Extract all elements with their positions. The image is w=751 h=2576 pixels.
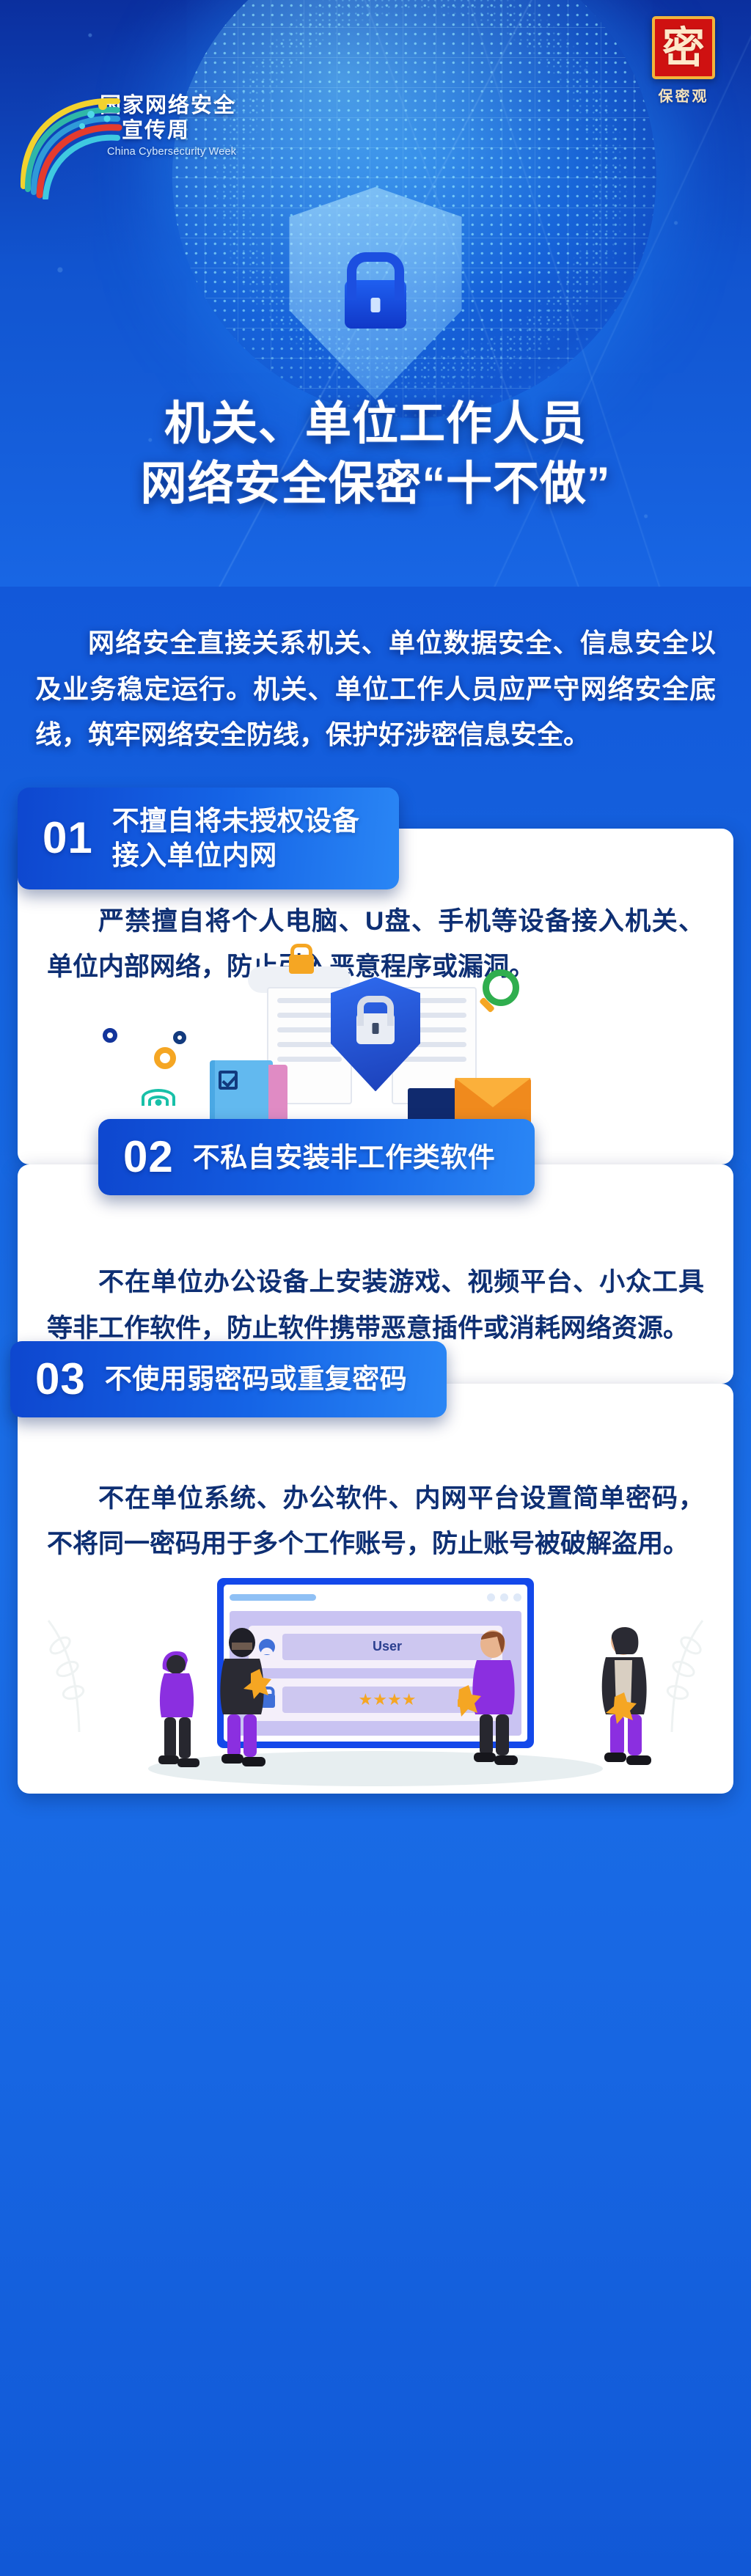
rule-header-01[interactable]: 01 不擅自将未授权设备 接入单位内网 xyxy=(18,788,399,889)
rule-panel-01: 01 不擅自将未授权设备 接入单位内网 严禁擅自将个人电脑、U盘、手机等设备接入… xyxy=(18,829,733,1165)
seal-stamp-icon: 密 xyxy=(652,16,715,79)
intro-paragraph: 网络安全直接关系机关、单位数据安全、信息安全以及业务稳定运行。机关、单位工作人员… xyxy=(35,620,716,758)
rule-header-02[interactable]: 02 不私自安装非工作类软件 xyxy=(98,1119,535,1195)
rule-number-03: 03 xyxy=(35,1357,86,1401)
title-line-2: 网络安全保密“十不做” xyxy=(0,455,751,515)
cybersecurity-week-logo: 国家网络安全 宣传周 China Cybersecurity Week xyxy=(21,94,285,158)
rule-body-02: 不在单位办公设备上安装游戏、视频平台、小众工具等非工作软件，防止软件携带恶意插件… xyxy=(47,1260,704,1351)
window-controls[interactable] xyxy=(487,1593,521,1601)
hacker-figure-4 xyxy=(590,1618,660,1775)
seal-character: 密 xyxy=(662,26,705,69)
rule-item-01: 01 不擅自将未授权设备 接入单位内网 严禁擅自将个人电脑、U盘、手机等设备接入… xyxy=(0,829,751,1165)
padlock-icon xyxy=(356,1013,395,1044)
rules-list: 01 不擅自将未授权设备 接入单位内网 严禁擅自将个人电脑、U盘、手机等设备接入… xyxy=(0,829,751,1794)
magnifier-icon xyxy=(483,969,519,1006)
browser-toolbar xyxy=(230,1590,521,1605)
rule-heading-02: 不私自安装非工作类软件 xyxy=(193,1140,496,1175)
logo-title-line1: 国家网络安全 xyxy=(100,94,285,118)
padlock-icon xyxy=(345,280,406,329)
hacker-figure-3 xyxy=(458,1622,525,1775)
rule-heading-01-line1: 不擅自将未授权设备 xyxy=(112,806,360,836)
gear-icon-small xyxy=(173,1031,186,1044)
padlock-icon-small xyxy=(289,955,314,974)
rule-panel-03: 03 不使用弱密码或重复密码 不在单位系统、办公软件、内网平台设置简单密码，不将… xyxy=(18,1384,733,1794)
username-value: User xyxy=(373,1639,402,1654)
checkbox-icon xyxy=(219,1071,238,1090)
password-mask: ★★★★ xyxy=(359,1692,417,1708)
rule-body-03: 不在单位系统、办公软件、内网平台设置简单密码，不将同一密码用于多个工作账号，防止… xyxy=(47,1476,704,1568)
wifi-icon xyxy=(141,1085,176,1106)
rule-number-01: 01 xyxy=(43,816,93,860)
rule-heading-03: 不使用弱密码或重复密码 xyxy=(105,1362,408,1396)
leaf-decoration-left xyxy=(35,1607,123,1732)
swoosh-icon xyxy=(15,89,125,199)
logo-subtitle-en: China Cybersecurity Week xyxy=(100,146,285,158)
infographic-poster: 国家网络安全 宣传周 China Cybersecurity Week 密 保密… xyxy=(0,0,751,2576)
window-dot-3 xyxy=(513,1593,521,1601)
rule-number-02: 02 xyxy=(123,1135,174,1179)
window-dot-2 xyxy=(500,1593,508,1601)
illustration-password-theft: User ★★★★ xyxy=(18,1574,733,1794)
window-dot-1 xyxy=(487,1593,495,1601)
rule-heading-01: 不擅自将未授权设备 接入单位内网 xyxy=(112,804,360,873)
hacker-figure-2 xyxy=(208,1621,276,1775)
rule-header-03[interactable]: 03 不使用弱密码或重复密码 xyxy=(10,1341,447,1417)
rule-item-03: 03 不使用弱密码或重复密码 不在单位系统、办公软件、内网平台设置简单密码，不将… xyxy=(0,1384,751,1794)
illustration-network-security xyxy=(47,949,704,1132)
baomiguan-seal: 密 保密观 xyxy=(642,16,725,106)
title-line-1: 机关、单位工作人员 xyxy=(0,395,751,455)
rule-heading-01-line2: 接入单位内网 xyxy=(112,840,277,870)
hero-section: 国家网络安全 宣传周 China Cybersecurity Week 密 保密… xyxy=(0,0,751,587)
logo-title-line2: 宣传周 xyxy=(100,118,285,144)
circle-dot-decoration xyxy=(103,1028,117,1043)
seal-label: 保密观 xyxy=(642,84,725,106)
page-title: 机关、单位工作人员 网络安全保密“十不做” xyxy=(0,395,751,515)
hacker-figure-1 xyxy=(147,1635,210,1775)
address-bar[interactable] xyxy=(230,1594,316,1601)
gear-icon xyxy=(154,1047,176,1069)
